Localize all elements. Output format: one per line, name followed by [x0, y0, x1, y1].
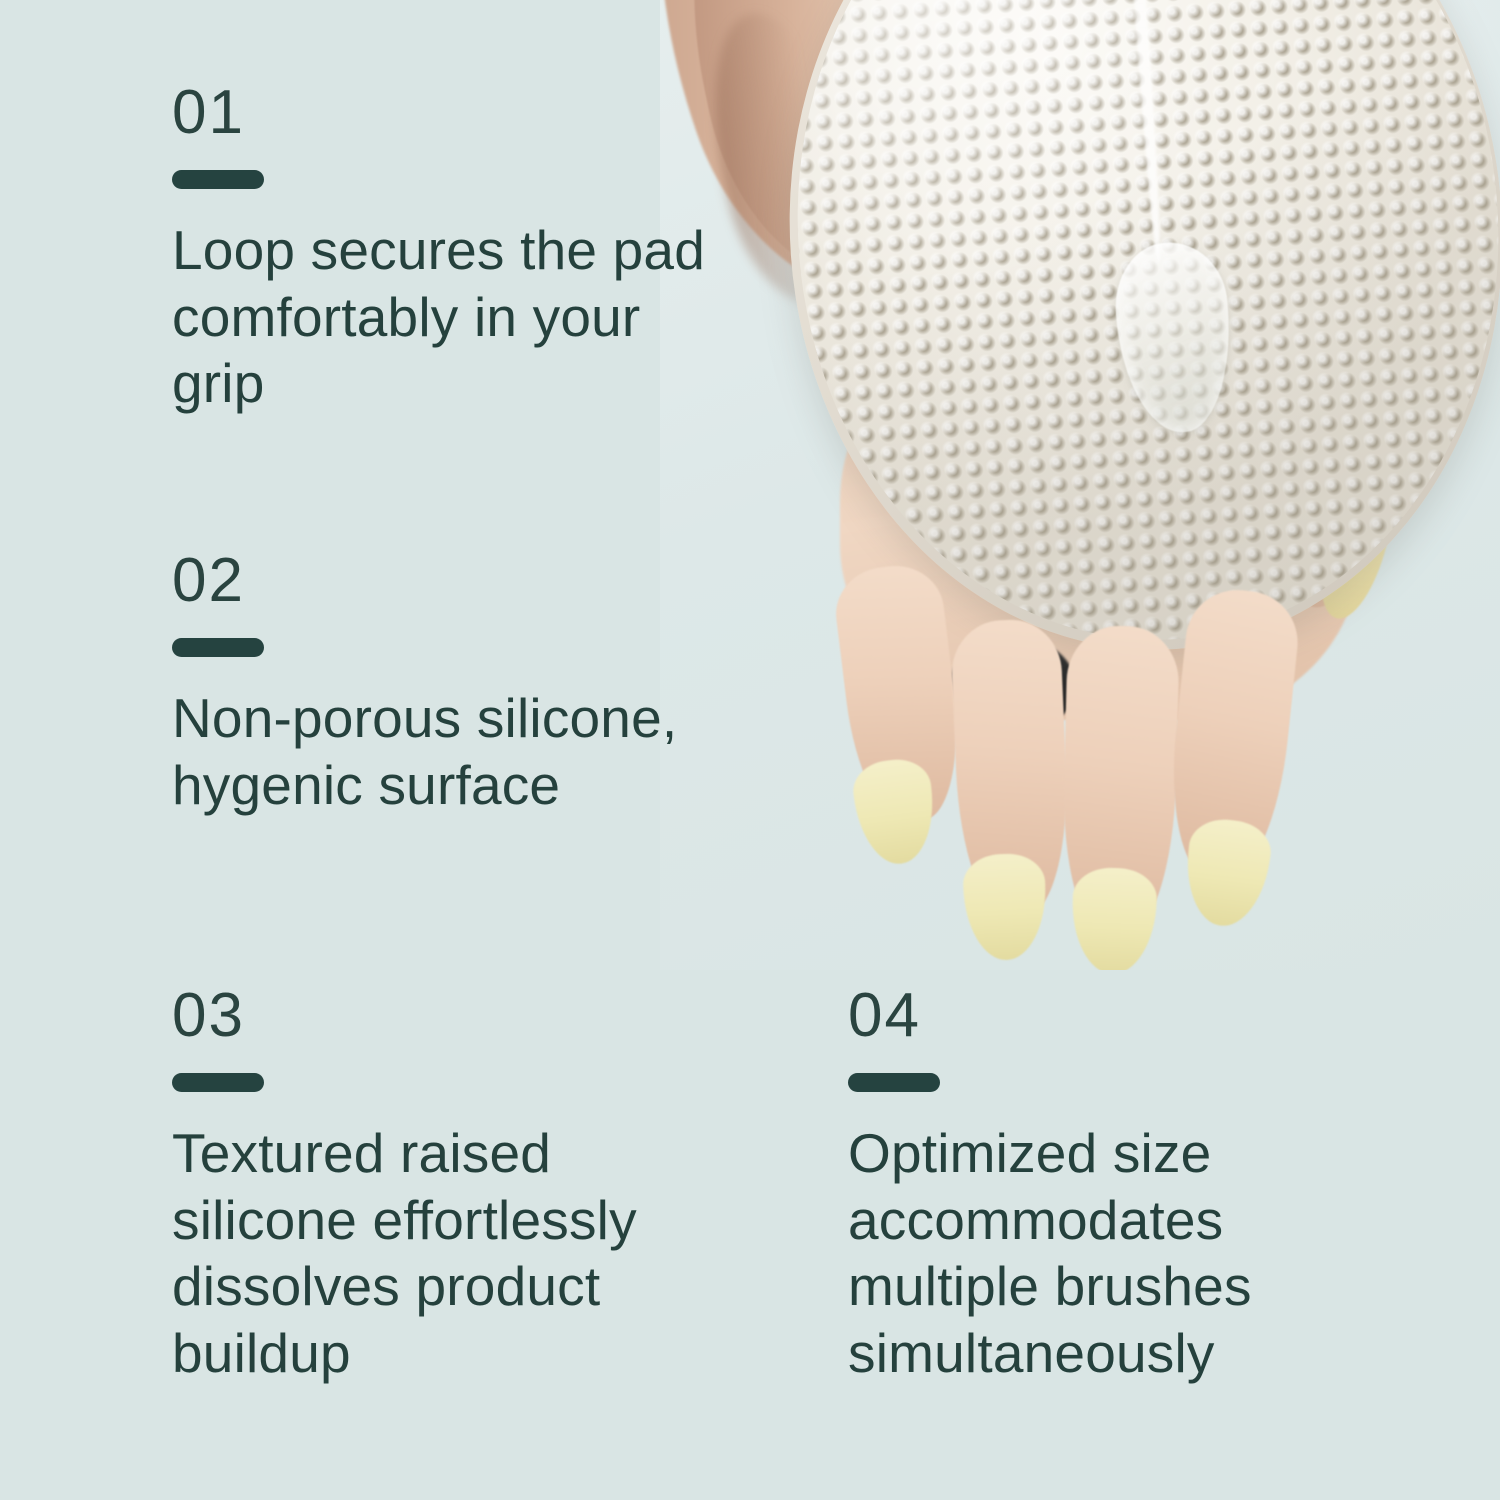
feature-text-02: Non-porous silicone, hygenic surface — [172, 685, 692, 818]
feature-divider-02 — [172, 638, 264, 657]
feature-divider-04 — [848, 1073, 940, 1092]
feature-number-04: 04 — [848, 985, 1388, 1047]
feature-number-03: 03 — [172, 985, 732, 1047]
feature-text-04: Optimized size accommodates multiple bru… — [848, 1120, 1388, 1386]
product-photo — [660, 0, 1500, 970]
feature-text-03: Textured raised silicone effortlessly di… — [172, 1120, 732, 1386]
feature-number-01: 01 — [172, 82, 732, 144]
feature-item-04: 04 Optimized size accommodates multiple … — [848, 985, 1388, 1386]
feature-item-01: 01 Loop secures the pad comfortably in y… — [172, 82, 732, 417]
feature-text-01: Loop secures the pad comfortably in your… — [172, 217, 732, 417]
feature-divider-03 — [172, 1073, 264, 1092]
feature-number-02: 02 — [172, 550, 692, 612]
product-feature-infographic: 01 Loop secures the pad comfortably in y… — [0, 0, 1500, 1500]
pad-face — [770, 0, 1500, 663]
feature-item-03: 03 Textured raised silicone effortlessly… — [172, 985, 732, 1386]
feature-item-02: 02 Non-porous silicone, hygenic surface — [172, 550, 692, 818]
feature-divider-01 — [172, 170, 264, 189]
